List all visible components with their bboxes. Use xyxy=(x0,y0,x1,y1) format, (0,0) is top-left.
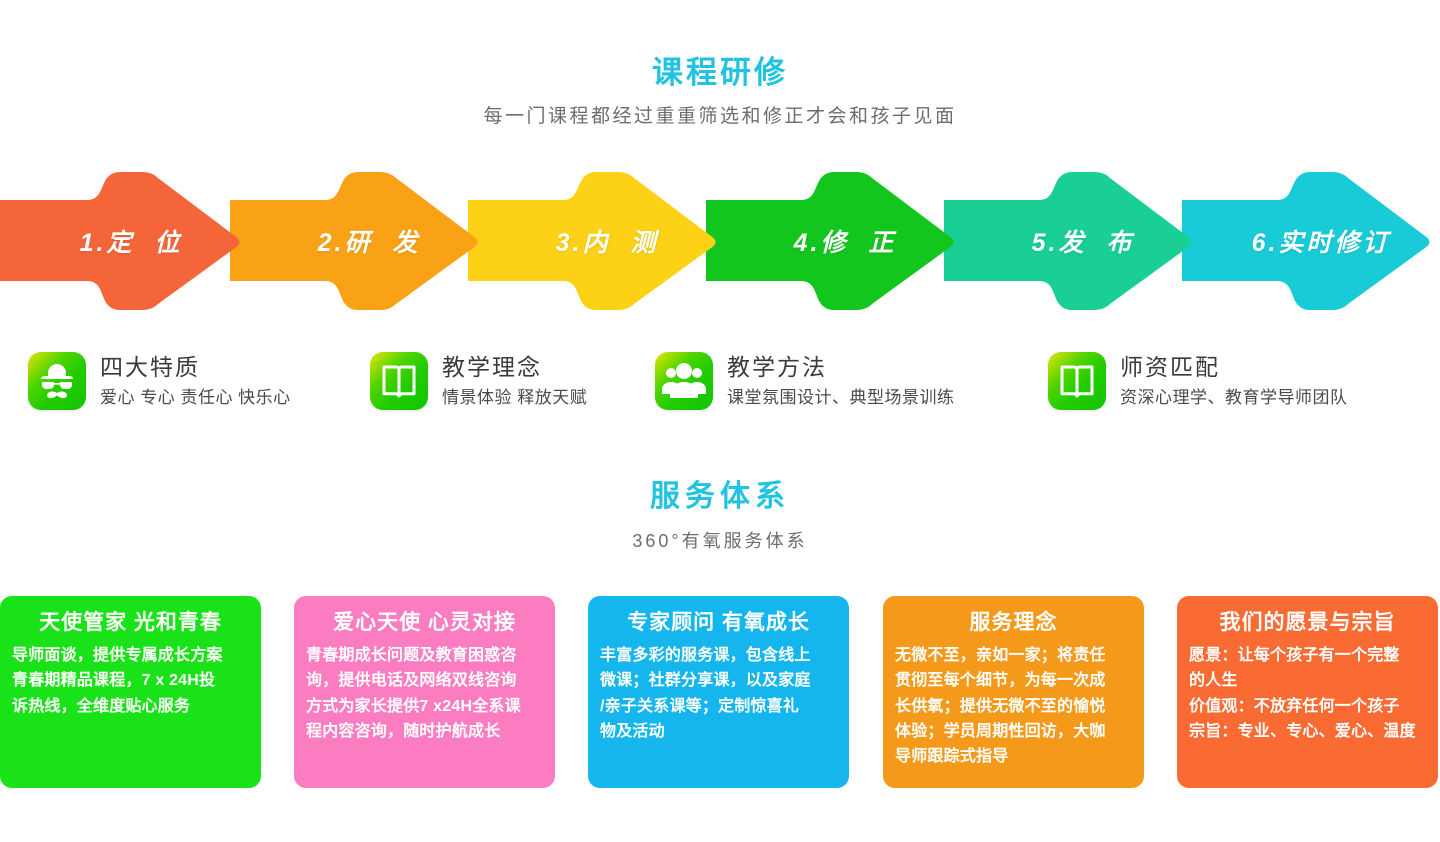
feature-title: 教学理念 xyxy=(442,353,587,382)
feature-subtitle: 爱心 专心 责任心 快乐心 xyxy=(100,387,291,410)
service-card[interactable]: 爱心天使 心灵对接 青春期成长问题及教育困惑咨 询，提供电话及网络双线咨询 方式… xyxy=(294,596,555,788)
feature-subtitle: 资深心理学、教育学导师团队 xyxy=(1120,387,1348,410)
feature-title: 教学方法 xyxy=(727,353,955,382)
feature-item-teacher-match[interactable]: 师资匹配 资深心理学、教育学导师团队 xyxy=(1048,352,1348,410)
service-card-title: 爱心天使 心灵对接 xyxy=(306,610,543,635)
people-group-icon xyxy=(655,352,713,410)
service-card-body: 青春期成长问题及教育困惑咨 询，提供电话及网络双线咨询 方式为家长提供7 x24… xyxy=(306,643,543,744)
service-card-body: 丰富多彩的服务课，包含线上 微课；社群分享课，以及家庭 /亲子关系课等；定制惊喜… xyxy=(600,643,837,744)
open-book-icon xyxy=(1048,352,1106,410)
service-section-heading: 服务体系 360°有氧服务体系 xyxy=(0,480,1440,553)
page-title: 课程研修 xyxy=(0,56,1440,90)
service-card-title: 专家顾问 有氧成长 xyxy=(600,610,837,635)
service-card-row: 天使管家 光和青春 导师面谈，提供专属成长方案 青春期精品课程，7 x 24H投… xyxy=(0,596,1440,788)
service-card[interactable]: 天使管家 光和青春 导师面谈，提供专属成长方案 青春期精品课程，7 x 24H投… xyxy=(0,596,261,788)
service-section-title: 服务体系 xyxy=(0,480,1440,513)
service-card-body: 愿景：让每个孩子有一个完整 的人生 价值观：不放弃任何一个孩子 宗旨：专业、专心… xyxy=(1189,643,1426,744)
service-card-title: 我们的愿景与宗旨 xyxy=(1189,610,1426,635)
service-card-body: 无微不至，亲如一家；将责任 贯彻至每个细节，为每一次成 长供氧；提供无微不至的愉… xyxy=(895,643,1132,769)
feature-item-teaching-method[interactable]: 教学方法 课堂氛围设计、典型场景训练 xyxy=(655,352,955,410)
service-card-body: 导师面谈，提供专属成长方案 青春期精品课程，7 x 24H投 诉热线，全维度贴心… xyxy=(12,643,249,719)
feature-title: 师资匹配 xyxy=(1120,353,1348,382)
feature-text: 教学理念 情景体验 释放天赋 xyxy=(442,352,587,410)
service-card[interactable]: 服务理念 无微不至，亲如一家；将责任 贯彻至每个细节，为每一次成 长供氧；提供无… xyxy=(883,596,1144,788)
feature-title: 四大特质 xyxy=(100,353,291,382)
feature-text: 教学方法 课堂氛围设计、典型场景训练 xyxy=(727,352,955,410)
feature-item-four-traits[interactable]: 四大特质 爱心 专心 责任心 快乐心 xyxy=(28,352,291,410)
feature-text: 师资匹配 资深心理学、教育学导师团队 xyxy=(1120,352,1348,410)
feature-subtitle: 课堂氛围设计、典型场景训练 xyxy=(727,387,955,410)
service-card-title: 天使管家 光和青春 xyxy=(12,610,249,635)
feature-subtitle: 情景体验 释放天赋 xyxy=(442,387,587,410)
course-section-heading: 课程研修 每一门课程都经过重重筛选和修正才会和孩子见面 xyxy=(0,56,1440,129)
feature-item-teaching-philosophy[interactable]: 教学理念 情景体验 释放天赋 xyxy=(370,352,587,410)
service-card[interactable]: 我们的愿景与宗旨 愿景：让每个孩子有一个完整 的人生 价值观：不放弃任何一个孩子… xyxy=(1177,596,1438,788)
service-card-title: 服务理念 xyxy=(895,610,1132,635)
service-section-subtitle: 360°有氧服务体系 xyxy=(0,531,1440,553)
course-section-subtitle: 每一门课程都经过重重筛选和修正才会和孩子见面 xyxy=(0,106,1440,129)
gentleman-icon xyxy=(28,352,86,410)
service-card[interactable]: 专家顾问 有氧成长 丰富多彩的服务课，包含线上 微课；社群分享课，以及家庭 /亲… xyxy=(588,596,849,788)
feature-row: 四大特质 爱心 专心 责任心 快乐心 教学理念 情景体验 释放天赋 xyxy=(0,352,1440,436)
feature-text: 四大特质 爱心 专心 责任心 快乐心 xyxy=(100,352,291,410)
flow-step-1[interactable]: 1.定 位 xyxy=(0,168,282,313)
open-book-icon xyxy=(370,352,428,410)
process-flow: 1.定 位 2.研 发 3.内 测 4.修 正 5.发 布 xyxy=(0,168,1440,313)
